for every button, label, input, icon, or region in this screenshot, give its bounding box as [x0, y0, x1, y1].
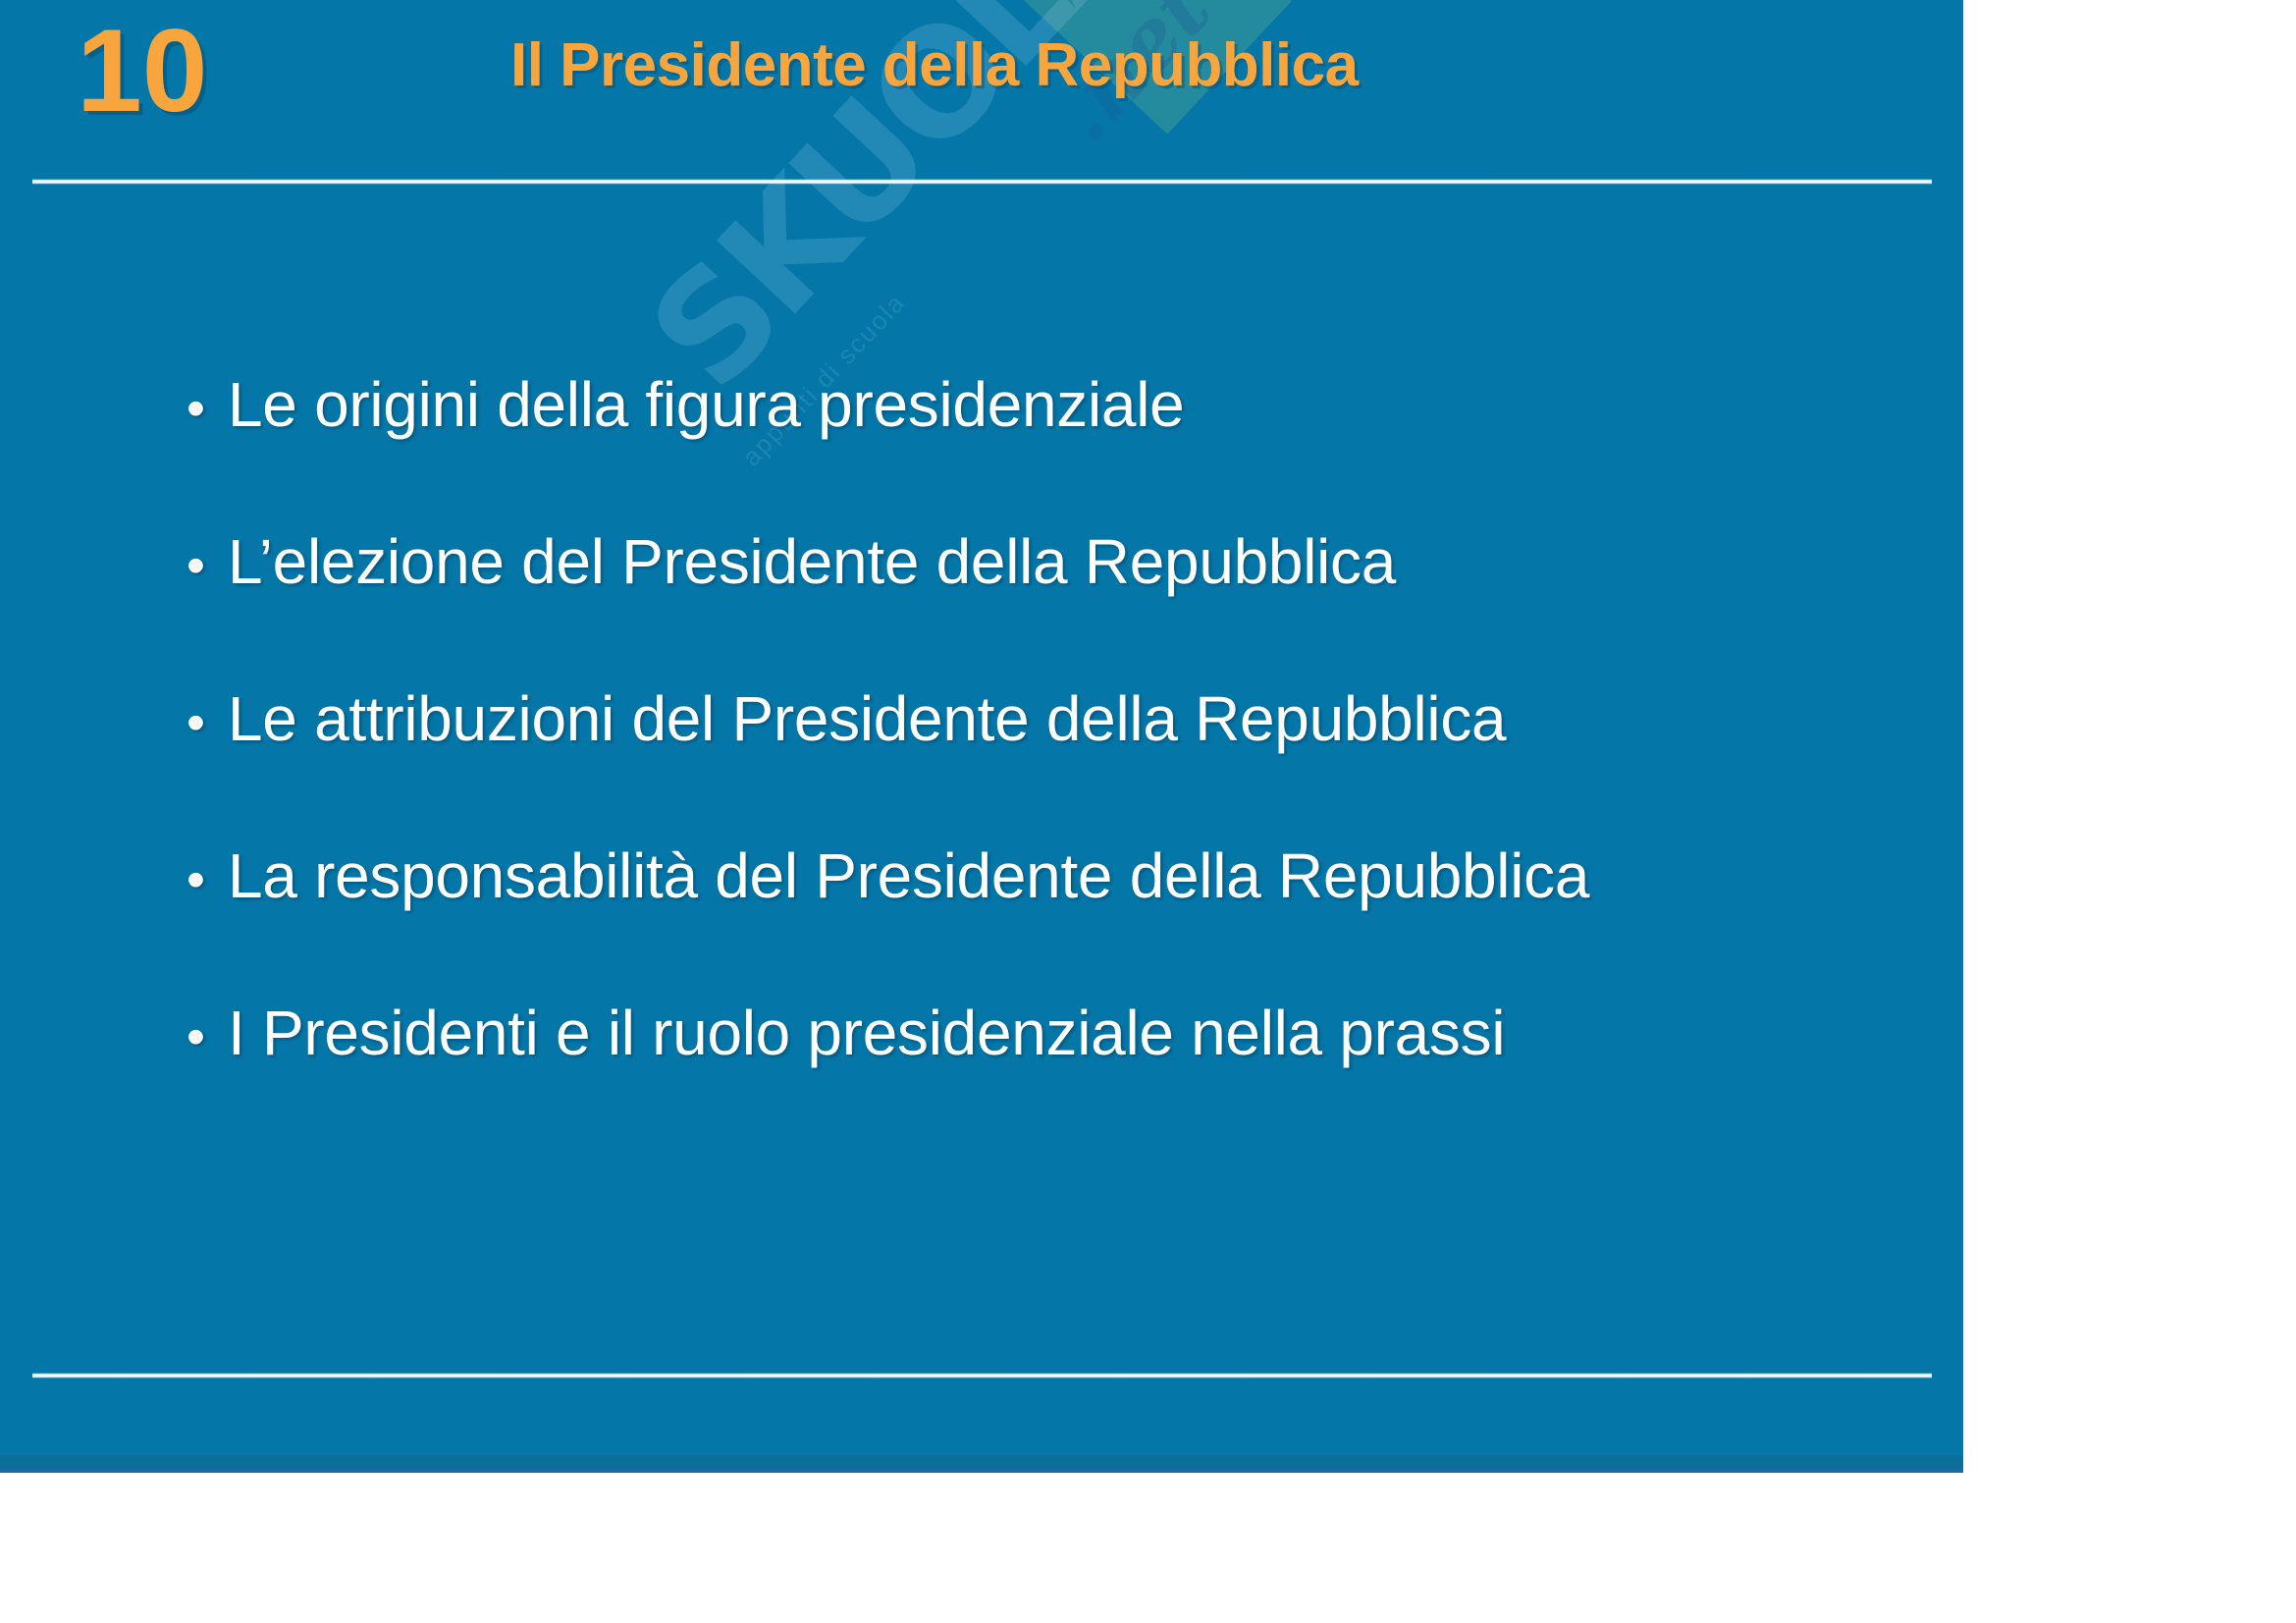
- slide-header: 10 Il Presidente della Repubblica: [0, 0, 1963, 182]
- list-item-label: Le origini della figura presidenziale: [228, 373, 1184, 436]
- list-item-label: L’elezione del Presidente della Repubbli…: [228, 530, 1396, 593]
- list-item-label: La responsabilità del Presidente della R…: [228, 844, 1589, 907]
- list-item: • Le attribuzioni del Presidente della R…: [0, 687, 1963, 844]
- list-item: • I Presidenti e il ruolo presidenziale …: [0, 1001, 1963, 1159]
- bullet-dot-icon: •: [187, 853, 228, 906]
- presentation-slide: SKUOLA .net appunti di scuola 10 Il Pres…: [0, 0, 1963, 1473]
- slide-number: 10: [77, 12, 207, 130]
- slide-bottom-edge: [0, 1469, 1963, 1473]
- bullet-dot-icon: •: [187, 1010, 228, 1063]
- bullet-dot-icon: •: [187, 696, 228, 749]
- list-item: • L’elezione del Presidente della Repubb…: [0, 530, 1963, 687]
- list-item: • Le origini della figura presidenziale: [0, 373, 1963, 530]
- bullet-dot-icon: •: [187, 382, 228, 435]
- agenda-list: • Le origini della figura presidenziale …: [0, 373, 1963, 1159]
- header-divider: [32, 179, 1932, 185]
- page-title: Il Presidente della Repubblica: [510, 35, 1359, 96]
- list-item: • La responsabilità del Presidente della…: [0, 844, 1963, 1001]
- list-item-label: I Presidenti e il ruolo presidenziale ne…: [228, 1001, 1505, 1064]
- footer-divider: [32, 1373, 1932, 1379]
- list-item-label: Le attribuzioni del Presidente della Rep…: [228, 687, 1506, 750]
- bullet-dot-icon: •: [187, 539, 228, 592]
